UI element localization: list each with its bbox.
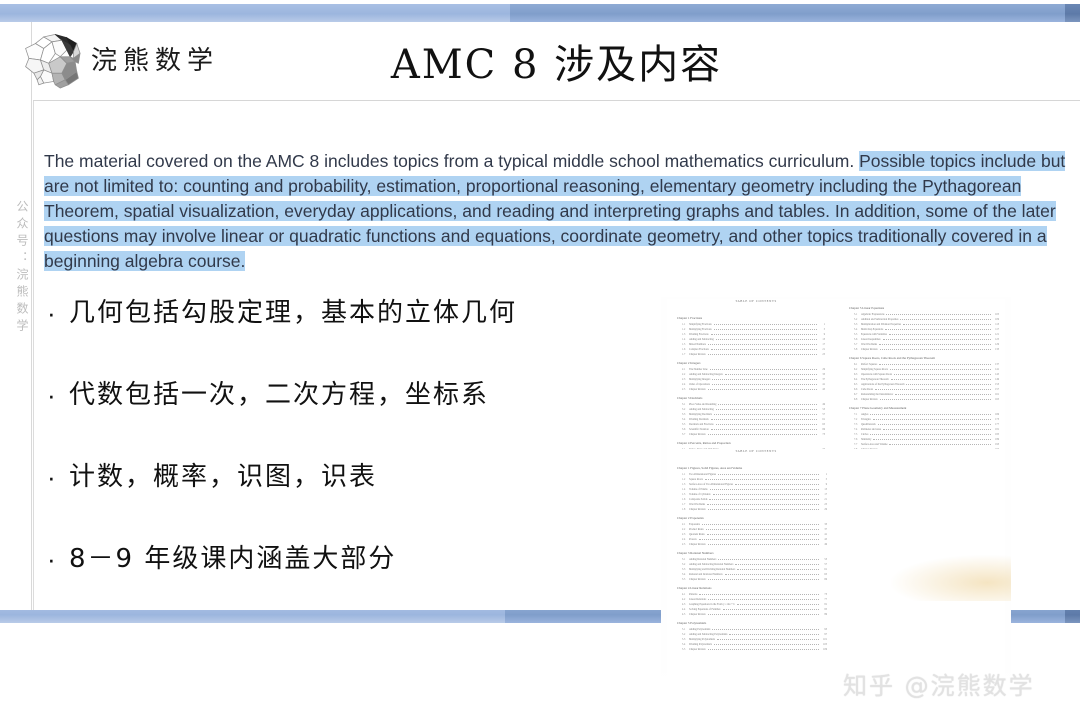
toc-leader-dots — [735, 561, 819, 565]
toc-entry-number: 5.5 — [682, 648, 689, 652]
toc-leader-dots — [708, 611, 819, 615]
toc-entry-name: Multi-Step Equations — [861, 328, 883, 332]
toc-chapter-title: Chapter 6 Square Roots, Cube Roots and t… — [849, 356, 999, 360]
top-bar-segment-3 — [1065, 4, 1080, 22]
toc-entry-page: 73 — [819, 433, 825, 437]
toc-entry-number: 3.6 — [682, 428, 689, 432]
list-item: · 8－9 年级课内涵盖大部分 — [47, 542, 647, 576]
toc-entry-name: Adding Polynomials — [689, 628, 710, 632]
toc-leader-dots — [714, 326, 817, 330]
toc-entry-page: 117 — [993, 328, 999, 332]
toc-entry-page: 5 — [821, 478, 827, 482]
toc-entry-number: 1.6 — [682, 348, 689, 352]
toc-entry-number: 2.3 — [682, 533, 689, 537]
toc-entry-number: 1.4 — [682, 338, 689, 342]
toc-entry-name: Multiplying Fractions — [689, 328, 712, 332]
toc-entry-name: Powers — [689, 538, 697, 542]
toc-leader-dots — [709, 496, 819, 500]
toc-chapter-title: Chapter 4 Percents, Ratios and Proportio… — [677, 441, 825, 445]
toc-leader-dots — [712, 626, 819, 630]
toc-entry-number: 6.1 — [854, 363, 861, 367]
toc-entry-name: Algebraic Expressions — [861, 313, 884, 317]
toc-leader-dots — [708, 646, 819, 650]
toc-entry-name: Place Value and Rounding — [689, 403, 716, 407]
toc-entry: 3.7Chapter Review73 — [682, 431, 825, 436]
toc-entry-page: 149 — [993, 378, 999, 382]
toc-entry-page: 73 — [821, 593, 827, 597]
toc-leader-dots — [711, 416, 817, 420]
toc-chapter-title: Chapter 1 Fractions — [677, 316, 825, 320]
toc-entry-page: 49 — [819, 403, 825, 407]
toc-entry-name: Quadrilaterals — [861, 423, 876, 427]
toc-leader-dots — [716, 421, 818, 425]
toc-entry-number: 1.5 — [682, 493, 689, 497]
toc-entry-name: Exponents — [689, 523, 700, 527]
toc-leader-dots — [873, 416, 991, 420]
toc-chapter-title: Chapter 1 Figures, Solid Figures, Area a… — [677, 466, 827, 470]
toc-entry-name: Chapter Review — [689, 613, 706, 617]
toc-entry-page: 145 — [993, 373, 999, 377]
toc-entry-name: Perfect Squares — [861, 363, 877, 367]
bullet-marker-icon: · — [47, 378, 69, 412]
toc-entry-name: Chapter Review — [861, 398, 878, 402]
toc-heading: TABLE OF CONTENTS — [681, 449, 831, 453]
toc-leader-dots — [906, 381, 991, 385]
toc-scan-image: TABLE OF CONTENTSChapter 1 Fractions1.1S… — [661, 297, 1011, 687]
top-bar-segment-2 — [510, 4, 1065, 22]
toc-entry-number: 4.4 — [682, 608, 689, 612]
toc-entry-name: Chapter Review — [861, 348, 878, 352]
toc-leader-dots — [891, 376, 991, 380]
list-item-label: 几何包括勾股定理，基本的立体几何 — [69, 296, 517, 330]
toc-entry-page: 157 — [993, 388, 999, 392]
toc-entry-number: 1.5 — [682, 343, 689, 347]
toc-leader-dots — [883, 336, 991, 340]
toc-entry-number: 5.1 — [854, 313, 861, 317]
toc-entry-name: Operations with Square Roots — [861, 373, 892, 377]
toc-entry-number: 5.4 — [854, 328, 861, 332]
toc-entry-page: 169 — [993, 413, 999, 417]
toc-entry-number: 2.1 — [682, 523, 689, 527]
toc-entry-number: 3.3 — [682, 413, 689, 417]
toc-entry: 2.5Chapter Review49 — [682, 541, 827, 546]
toc-leader-dots — [714, 321, 817, 325]
toc-entry-number: 5.3 — [854, 323, 861, 327]
toc-leader-dots — [729, 631, 819, 635]
toc-leader-dots — [717, 636, 819, 640]
toc-entry-name: Chapter Review — [689, 353, 706, 357]
toc-entry-page: 81 — [821, 603, 827, 607]
toc-entry-page: 41 — [821, 533, 827, 537]
toc-entry-number: 4.2 — [682, 598, 689, 602]
toc-entry-number: 6.5 — [854, 383, 861, 387]
toc-entry-page: 105 — [821, 643, 827, 647]
toc-entry-name: Chapter Review — [689, 543, 706, 547]
toc-entry-name: Angles — [861, 413, 868, 417]
toc-entry: 6.8Chapter Review165 — [854, 396, 999, 401]
toc-entry-page: 29 — [819, 368, 825, 372]
toc-entry-number: 5.3 — [682, 638, 689, 642]
toc-leader-dots — [712, 381, 817, 385]
toc-chapter-title: Chapter 2 Integers — [677, 361, 825, 365]
toc-leader-dots — [870, 431, 991, 435]
toc-entry-page: 29 — [821, 508, 827, 512]
toc-entry-page: 137 — [993, 363, 999, 367]
toc-entry-page: 1 — [821, 473, 827, 477]
toc-entry-number: 3.4 — [682, 573, 689, 577]
toc-entry-name: Addition and Subtraction Properties — [861, 318, 898, 322]
toc-scan-warm-glare — [891, 555, 1011, 601]
list-item-label: 代数包括一次，二次方程，坐标系 — [69, 378, 489, 412]
toc-leader-dots — [889, 441, 991, 445]
toc-entry-page: 185 — [993, 433, 999, 437]
toc-entry-page: 109 — [821, 648, 827, 652]
toc-leader-dots — [718, 471, 819, 475]
toc-leader-dots — [894, 371, 991, 375]
toc-leader-dots — [711, 426, 817, 430]
toc-leader-dots — [708, 386, 817, 390]
toc-entry-number: 2.2 — [682, 373, 689, 377]
toc-leader-dots — [702, 521, 819, 525]
toc-leader-dots — [699, 591, 819, 595]
toc-entry-number: 6.2 — [854, 368, 861, 372]
toc-entry-number: 1.6 — [682, 498, 689, 502]
toc-chapter-title: Chapter 5 Linear Equations — [849, 306, 999, 310]
toc-heading: TABLE OF CONTENTS — [681, 299, 831, 303]
toc-leader-dots — [886, 311, 991, 315]
toc-entry-page: 17 — [821, 493, 827, 497]
toc-entry-page: 13 — [819, 338, 825, 342]
toc-leader-dots — [725, 571, 819, 575]
toc-leader-dots — [714, 411, 817, 415]
watermark-label: 知乎 @浣熊数学 — [843, 666, 1035, 701]
toc-entry-name: Square Roots — [689, 478, 703, 482]
toc-entry-page: 181 — [993, 428, 999, 432]
toc-entry-number: 6.6 — [854, 388, 861, 392]
toc-entry-page: 61 — [821, 568, 827, 572]
list-item: · 几何包括勾股定理，基本的立体几何 — [47, 296, 647, 330]
bullet-marker-icon: · — [47, 460, 69, 494]
toc-leader-dots — [873, 436, 991, 440]
toc-entry-number: 1.8 — [682, 508, 689, 512]
toc-entry-page: 53 — [821, 558, 827, 562]
toc-entry-name: Adding Rational Numbers — [689, 558, 716, 562]
toc-entry-page: 33 — [821, 523, 827, 527]
toc-leader-dots — [718, 556, 819, 560]
toc-entry-number: 6.3 — [854, 373, 861, 377]
toc-entry-page: 161 — [993, 393, 999, 397]
toc-chapter-title: Chapter 5 Polynomials — [677, 621, 827, 625]
toc-entry-page: 57 — [819, 413, 825, 417]
toc-leader-dots — [705, 476, 819, 480]
toc-entry-name: Circles — [861, 433, 868, 437]
toc-entry-number: 5.5 — [854, 333, 861, 337]
toc-entry-name: The Number Line — [689, 368, 708, 372]
toc-leader-dots — [718, 401, 817, 405]
slide-content: The material covered on the AMC 8 includ… — [33, 101, 1080, 610]
toc-entry-number: 5.1 — [682, 628, 689, 632]
toc-entry-name: Chapter Review — [689, 578, 706, 582]
toc-entry-page: 85 — [821, 608, 827, 612]
toc-entry-number: 4.3 — [682, 603, 689, 607]
toc-entry-page: 25 — [819, 353, 825, 357]
toc-entry-page: 129 — [993, 343, 999, 347]
toc-entry-page: 141 — [993, 368, 999, 372]
toc-entry-page: 45 — [819, 388, 825, 392]
toc-entry-page: 1 — [819, 323, 825, 327]
list-item: · 计数，概率，识图，识表 — [47, 460, 647, 494]
toc-entry-name: Multiplying Decimals — [689, 413, 712, 417]
toc-entry-number: 5.4 — [682, 643, 689, 647]
toc-entry-number: 7.6 — [854, 438, 861, 442]
toc-entry-number: 2.4 — [682, 538, 689, 542]
list-item: · 代数包括一次，二次方程，坐标系 — [47, 378, 647, 412]
toc-entry-page: 133 — [993, 348, 999, 352]
sidebar-vertical-text: 公众号：浣熊数学 — [4, 200, 28, 336]
toc-entry: 2.5Chapter Review45 — [682, 386, 825, 391]
toc-entry-number: 2.4 — [682, 383, 689, 387]
toc-entry: 5.8Chapter Review133 — [854, 346, 999, 351]
toc-leader-dots — [699, 536, 819, 540]
toc-chapter-title: Chapter 3 Rational Numbers — [677, 551, 827, 555]
toc-entry-name: Multiplying Polynomials — [689, 638, 715, 642]
toc-leader-dots — [707, 501, 819, 505]
toc-entry-name: Similarity — [861, 438, 871, 442]
toc-entry-page: 93 — [821, 628, 827, 632]
toc-leader-dots — [890, 366, 991, 370]
toc-entry-number: 1.7 — [682, 503, 689, 507]
toc-entry-name: Order of Operations — [689, 383, 710, 387]
toc-entry-number: 5.8 — [854, 348, 861, 352]
toc-entry-number: 5.2 — [682, 633, 689, 637]
toc-entry-page: 45 — [821, 538, 827, 542]
toc-entry-page: 21 — [819, 348, 825, 352]
toc-leader-dots — [710, 486, 819, 490]
toc-entry-page: 9 — [821, 483, 827, 487]
toc-entry-number: 5.2 — [854, 318, 861, 322]
toc-leader-dots — [737, 566, 819, 570]
toc-entry: 5.5Chapter Review109 — [682, 646, 827, 651]
toc-entry-number: 3.1 — [682, 558, 689, 562]
paragraph-plain-text: The material covered on the AMC 8 includ… — [44, 151, 859, 171]
toc-entry-name: Volume of Prisms — [689, 488, 708, 492]
toc-entry-number: 3.2 — [682, 563, 689, 567]
toc-leader-dots — [713, 491, 819, 495]
toc-entry-page: 13 — [821, 488, 827, 492]
toc-entry-page: 25 — [821, 503, 827, 507]
toc-entry-number: 6.8 — [854, 398, 861, 402]
toc-entry-page: 17 — [819, 343, 825, 347]
toc-chapter-title: Chapter 4 Linear Relations — [677, 586, 827, 590]
toc-leader-dots — [716, 406, 817, 410]
toc-entry-page: 97 — [821, 633, 827, 637]
toc-entry: 3.5Chapter Review69 — [682, 576, 827, 581]
toc-entry-number: 7.7 — [854, 443, 861, 447]
toc-leader-dots — [708, 506, 819, 510]
toc-entry-number: 7.5 — [854, 433, 861, 437]
toc-entry-name: Triangles — [861, 418, 871, 422]
slide-canvas: 公众号：浣熊数学 — [0, 22, 1080, 610]
toc-entry-number: 1.2 — [682, 478, 689, 482]
toc-entry-number: 5.7 — [854, 343, 861, 347]
toc-leader-dots — [870, 411, 991, 415]
toc-entry-number: 3.3 — [682, 568, 689, 572]
toc-entry-number: 2.1 — [682, 368, 689, 372]
toc-entry-name: Scientific Notation — [689, 428, 709, 432]
toc-leader-dots — [879, 341, 991, 345]
toc-entry-name: Adding and Subtracting — [689, 408, 714, 412]
toc-leader-dots — [708, 431, 817, 435]
toc-leader-dots — [735, 481, 819, 485]
slide-header: 浣熊数学 AMC 8 涉及内容 — [33, 22, 1080, 100]
toc-entry-number: 4.5 — [682, 613, 689, 617]
toc-entry-page: 101 — [821, 638, 827, 642]
toc-entry-name: Mixed Numbers — [689, 343, 706, 347]
toc-entry-number: 1.3 — [682, 333, 689, 337]
content-left-border — [33, 101, 34, 610]
toc-entry-name: Chapter Review — [689, 433, 706, 437]
toc-entry-page: 41 — [819, 383, 825, 387]
toc-entry-page: 53 — [819, 408, 825, 412]
toc-entry-number: 2.5 — [682, 388, 689, 392]
toc-entry-page: 113 — [993, 323, 999, 327]
toc-entry: 1.7Chapter Review25 — [682, 351, 825, 356]
toc-entry-page: 9 — [819, 333, 825, 337]
toc-entry-number: 3.1 — [682, 403, 689, 407]
toc-leader-dots — [737, 601, 819, 605]
toc-leader-dots — [725, 371, 817, 375]
toc-entry-number: 6.4 — [854, 378, 861, 382]
toc-leader-dots — [711, 331, 817, 335]
toc-entry-number: 1.1 — [682, 473, 689, 477]
toc-entry-name: Complex Fractions — [689, 348, 709, 352]
toc-entry-name: Product Rules — [689, 528, 704, 532]
toc-entry-name: Simplifying Fractions — [689, 323, 712, 327]
toc-entry-page: 89 — [821, 613, 827, 617]
toc-leader-dots — [708, 576, 819, 580]
toc-entry-page: 37 — [821, 528, 827, 532]
toc-leader-dots — [875, 386, 991, 390]
toc-leader-dots — [710, 366, 817, 370]
top-decorative-bar — [0, 4, 1080, 22]
toc-entry-page: 77 — [821, 598, 827, 602]
toc-entry: 4.5Chapter Review89 — [682, 611, 827, 616]
toc-entry-page: 165 — [993, 398, 999, 402]
toc-entry-page: 33 — [819, 373, 825, 377]
toc-entry-number: 7.2 — [854, 418, 861, 422]
toc-entry-name: Dividing Fractions — [689, 333, 709, 337]
toc-leader-dots — [878, 421, 991, 425]
bullet-marker-icon: · — [47, 296, 69, 330]
toc-entry-number: 1.7 — [682, 353, 689, 357]
toc-entry-page: 177 — [993, 423, 999, 427]
toc-entry-page: 69 — [819, 428, 825, 432]
toc-entry-name: Volume of Cylinders — [689, 493, 711, 497]
toc-entry-number: 5.6 — [854, 338, 861, 342]
toc-entry-page: 173 — [993, 418, 999, 422]
toc-leader-dots — [885, 326, 991, 330]
toc-entry-name: The Pythagorean Theorem — [861, 378, 889, 382]
toc-entry-number: 2.3 — [682, 378, 689, 382]
toc-entry-page: 193 — [993, 443, 999, 447]
toc-chapter-title: Chapter 7 Plane Geometry and Measurement — [849, 406, 999, 410]
toc-leader-dots — [708, 541, 819, 545]
list-item-label: 8－9 年级课内涵盖大部分 — [69, 542, 396, 576]
toc-entry-page: 125 — [993, 338, 999, 342]
toc-leader-dots — [880, 346, 991, 350]
toc-entry-number: 1.3 — [682, 483, 689, 487]
toc-entry: 1.8Chapter Review29 — [682, 506, 827, 511]
toc-entry-number: 3.5 — [682, 578, 689, 582]
toc-entry-name: Chapter Review — [689, 648, 706, 652]
toc-chapter-title: Chapter 3 Decimals — [677, 396, 825, 400]
toc-entry-page: 109 — [993, 318, 999, 322]
toc-entry-page: 37 — [819, 378, 825, 382]
toc-entry-name: Linear Inequalities — [861, 338, 881, 342]
list-item-label: 计数，概率，识图，识表 — [69, 460, 377, 494]
toc-entry-name: Chapter Review — [689, 388, 706, 392]
toc-leader-dots — [883, 426, 991, 430]
toc-entry-name: Linear Relations — [689, 598, 706, 602]
toc-entry-number: 3.5 — [682, 423, 689, 427]
toc-leader-dots — [708, 596, 819, 600]
toc-entry-name: Composite Solids — [689, 498, 707, 502]
toc-leader-dots — [714, 641, 819, 645]
page-title: AMC 8 涉及内容 — [33, 32, 1080, 90]
bullet-list: · 几何包括勾股定理，基本的立体几何 · 代数包括一次，二次方程，坐标系 · 计… — [47, 296, 647, 624]
toc-entry-page: 49 — [821, 543, 827, 547]
intro-paragraph: The material covered on the AMC 8 includ… — [44, 149, 1066, 274]
toc-entry-page: 69 — [821, 578, 827, 582]
toc-entry-number: 3.2 — [682, 408, 689, 412]
toc-entry-page: 189 — [993, 438, 999, 442]
toc-entry-name: Word Problems — [689, 503, 705, 507]
rail-divider-line — [31, 22, 32, 610]
toc-chapter-title: Chapter 2 Exponents — [677, 516, 827, 520]
toc-entry-name: Word Problems — [861, 343, 877, 347]
toc-entry-number: 6.7 — [854, 393, 861, 397]
toc-entry-number: 4.1 — [682, 593, 689, 597]
bullet-marker-icon: · — [47, 542, 69, 576]
toc-entry-page: 121 — [993, 333, 999, 337]
toc-entry-name: Patterns — [689, 593, 697, 597]
toc-entry-number: 2.2 — [682, 528, 689, 532]
toc-entry-number: 1.4 — [682, 488, 689, 492]
toc-entry-number: 7.3 — [854, 423, 861, 427]
toc-entry-page: 65 — [821, 573, 827, 577]
toc-leader-dots — [711, 346, 817, 350]
toc-entry-number: 1.1 — [682, 323, 689, 327]
toc-leader-dots — [712, 376, 817, 380]
toc-leader-dots — [707, 531, 819, 535]
toc-entry-page: 153 — [993, 383, 999, 387]
toc-entry-number: 3.4 — [682, 418, 689, 422]
toc-entry-name: Simplifying Square Roots — [861, 368, 888, 372]
toc-entry-number: 7.1 — [854, 413, 861, 417]
toc-entry-page: 65 — [819, 423, 825, 427]
toc-entry-number: 1.2 — [682, 328, 689, 332]
toc-leader-dots — [708, 341, 817, 345]
toc-entry-name: Cube Roots — [861, 388, 873, 392]
toc-entry-page: 21 — [821, 498, 827, 502]
top-bar-segment-1 — [0, 4, 510, 22]
toc-leader-dots — [723, 606, 820, 610]
toc-leader-dots — [900, 316, 991, 320]
toc-leader-dots — [706, 526, 819, 530]
toc-column-left: Chapter 1 Figures, Solid Figures, Area a… — [675, 461, 827, 651]
toc-leader-dots — [879, 361, 991, 365]
toc-entry-number: 7.4 — [854, 428, 861, 432]
